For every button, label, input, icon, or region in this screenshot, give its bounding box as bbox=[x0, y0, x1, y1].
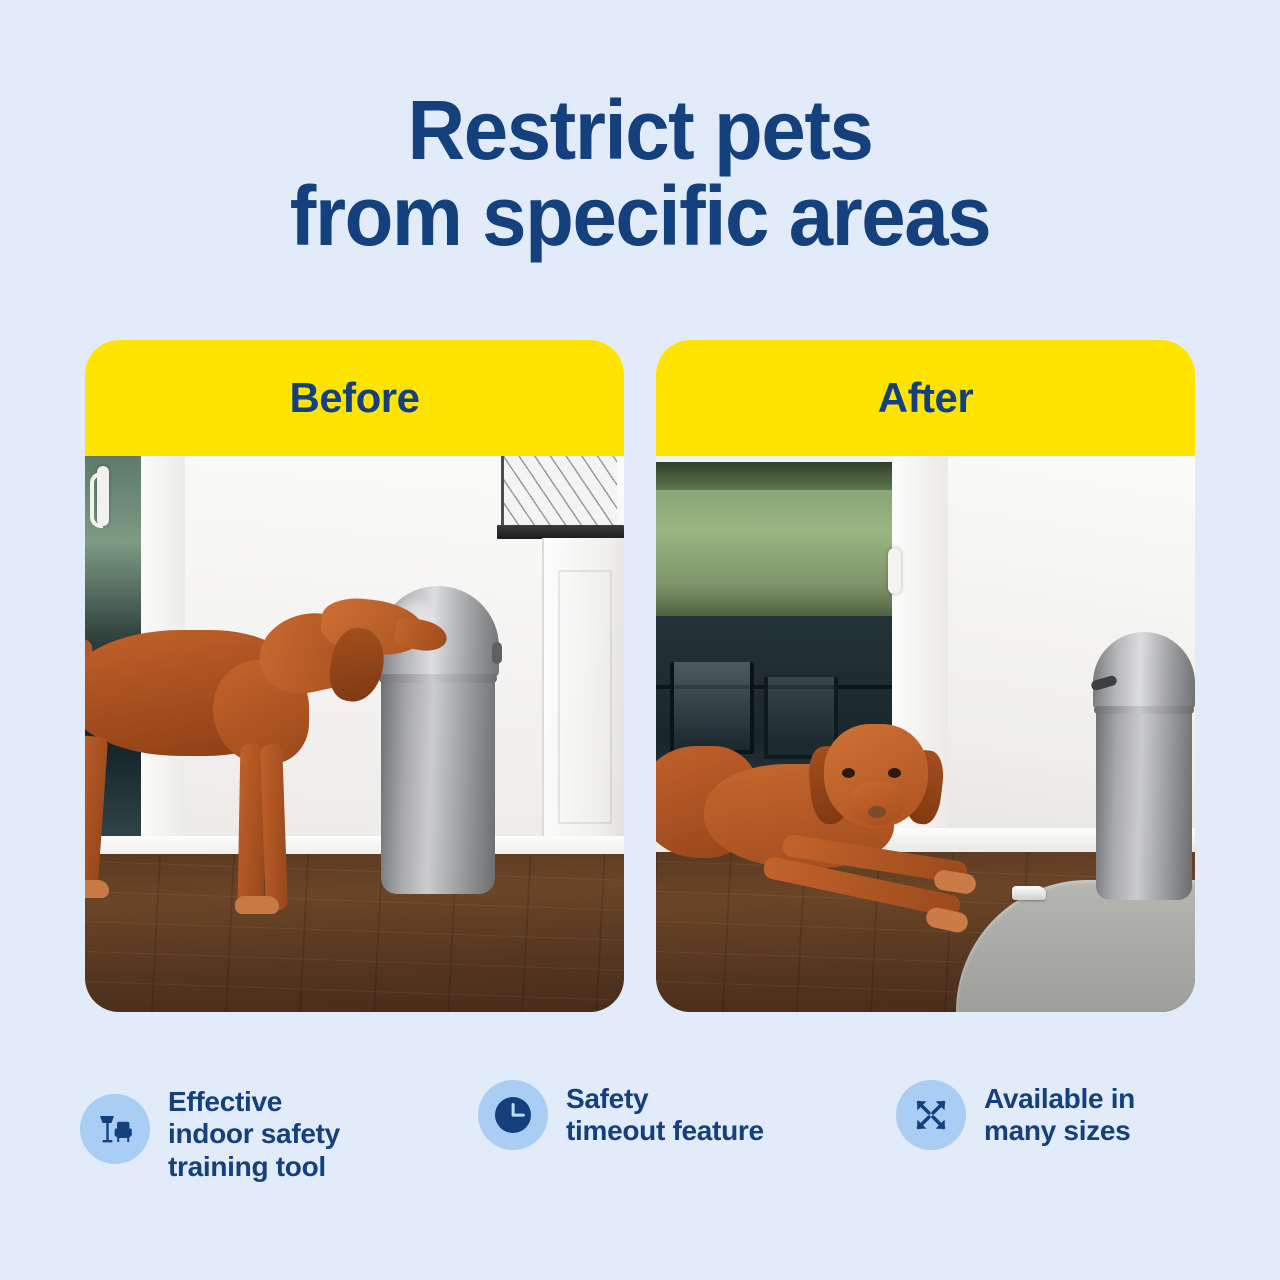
before-door-handle-icon bbox=[97, 466, 109, 526]
after-dog-nose bbox=[868, 806, 886, 818]
before-after-comparison: Before bbox=[85, 340, 1195, 1012]
feature-label-many-sizes: Available in many sizes bbox=[984, 1083, 1135, 1148]
feature-label-training-tool: Effective indoor safety training tool bbox=[168, 1080, 340, 1183]
feature-list: Effective indoor safety training tool Sa… bbox=[80, 1080, 1210, 1215]
after-dog-eye-right bbox=[888, 768, 901, 778]
expand-arrows-icon bbox=[896, 1080, 966, 1150]
feature-label-line: Safety bbox=[566, 1083, 764, 1115]
after-card: After bbox=[656, 340, 1195, 1012]
before-banner-label: Before bbox=[289, 374, 419, 422]
lamp-armchair-icon bbox=[80, 1094, 150, 1164]
after-dog bbox=[656, 724, 968, 954]
after-transmitter-device bbox=[1012, 886, 1046, 900]
before-photo bbox=[85, 456, 624, 1012]
after-banner-label: After bbox=[878, 374, 974, 422]
feature-label-line: indoor safety bbox=[168, 1118, 340, 1150]
feature-item-training-tool: Effective indoor safety training tool bbox=[80, 1080, 478, 1183]
feature-label-line: training tool bbox=[168, 1151, 340, 1183]
before-banner: Before bbox=[85, 340, 624, 456]
after-lawn-view bbox=[656, 462, 892, 616]
after-dog-eye-left bbox=[842, 768, 855, 778]
feature-label-safety-timeout: Safety timeout feature bbox=[566, 1083, 764, 1148]
after-door-handle-icon bbox=[888, 548, 901, 594]
feature-label-line: Available in bbox=[984, 1083, 1135, 1115]
after-trash-can-rim bbox=[1094, 706, 1194, 714]
before-trash-can-tab bbox=[492, 642, 502, 664]
feature-label-line: many sizes bbox=[984, 1115, 1135, 1147]
after-banner: After bbox=[656, 340, 1195, 456]
feature-item-safety-timeout: Safety timeout feature bbox=[478, 1080, 896, 1150]
before-dog-hind-leg bbox=[85, 735, 108, 887]
before-dog-front-leg-2 bbox=[260, 744, 288, 911]
before-dog bbox=[85, 604, 415, 934]
after-trash-can bbox=[1093, 632, 1195, 900]
before-dog-front-paw bbox=[235, 896, 279, 914]
before-dog-hind-paw bbox=[85, 880, 109, 898]
before-cabinet bbox=[542, 538, 624, 860]
feature-label-line: timeout feature bbox=[566, 1115, 764, 1147]
page-title-line-1: Restrict pets bbox=[408, 83, 873, 177]
feature-item-many-sizes: Available in many sizes bbox=[896, 1080, 1210, 1150]
feature-label-line: Effective bbox=[168, 1086, 340, 1118]
after-trash-can-body bbox=[1096, 696, 1192, 900]
before-card: Before bbox=[85, 340, 624, 1012]
after-trash-can-lid bbox=[1093, 632, 1195, 710]
page-title: Restrict pets from specific areas bbox=[32, 88, 1248, 259]
clock-icon bbox=[478, 1080, 548, 1150]
before-countertop bbox=[497, 525, 624, 539]
after-dog-paw-2 bbox=[924, 906, 969, 934]
after-dog-snout bbox=[850, 782, 904, 826]
before-herringbone-backsplash bbox=[501, 456, 617, 528]
after-photo bbox=[656, 456, 1195, 1012]
page-title-line-2: from specific areas bbox=[32, 174, 1248, 260]
